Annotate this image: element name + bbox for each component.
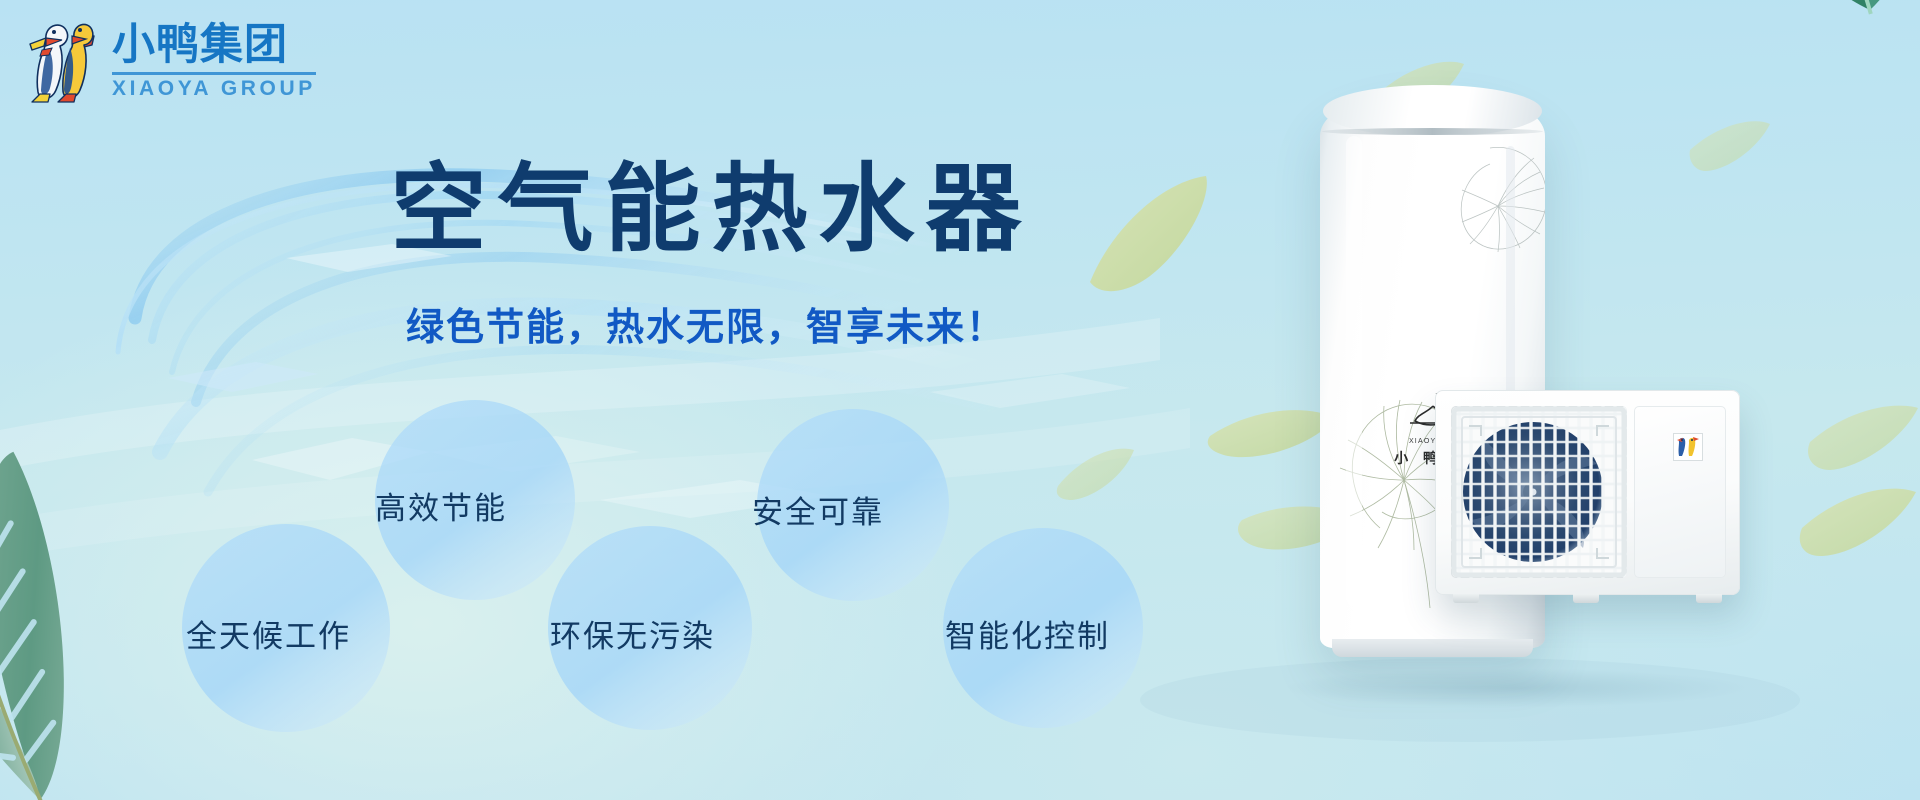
feature-bubble-smart-control[interactable]: 智能化控制	[945, 611, 1110, 656]
product-banner: 小鸭集团 XIAOYA GROUP 空气能热水器 绿色节能，热水无限，智享未来！…	[0, 0, 1920, 800]
outdoor-unit-fan-grill	[1451, 406, 1627, 578]
outdoor-unit-brand-badge	[1674, 434, 1702, 460]
product-image-group: XIAOYAPAI 小 鸭 牌	[1220, 0, 1920, 800]
outdoor-unit-feet	[1453, 594, 1722, 603]
feature-bubble-eco-friendly[interactable]: 环保无污染	[550, 611, 715, 656]
feature-bubble-all-weather[interactable]: 全天候工作	[186, 611, 351, 656]
outdoor-unit-side-panel	[1634, 406, 1726, 578]
feature-bubble-high-efficiency[interactable]: 高效节能	[375, 483, 507, 528]
heat-pump-outdoor-unit	[1435, 390, 1740, 595]
feature-bubble-safe-reliable[interactable]: 安全可靠	[752, 487, 884, 532]
tank-base	[1332, 639, 1533, 657]
feature-bubble-group: 高效节能 安全可靠 全天候工作 环保无污染 智能化控制	[0, 0, 1300, 800]
product-ground-shadow	[1280, 668, 1750, 708]
